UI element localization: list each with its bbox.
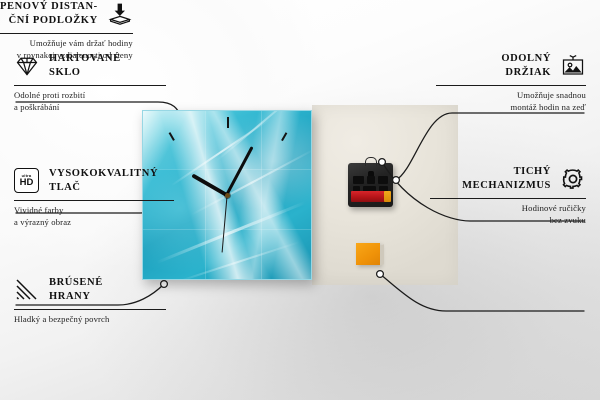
battery-positive-terminal [384,191,391,202]
feature-durable-hanger: ODOLNÝ DRŽIAK Umožňuje snadnou montáž ho… [436,52,586,114]
divider [14,309,166,310]
feature-title: PENOVÝ DISTAN- ČNÍ PODLOŽKY [0,0,98,29]
divider [436,85,586,86]
feature-title: BRÚSENÉ HRANY [49,276,103,305]
divider [14,200,174,201]
feature-title: VYSOKOKVALITNÝ TLAČ [49,167,158,196]
divider [430,198,586,199]
foam-pad-side [380,244,384,265]
mechanism-detail [378,176,388,184]
gear-icon [560,166,586,192]
feature-description: Hodinové ručičky bez zvuku [430,202,586,227]
foam-pads-icon [107,1,133,27]
feature-title: TICHÝ MECHANIZMUS [462,165,551,194]
feature-high-quality-print: ultra HD VYSOKOKVALITNÝ TLAČ Vividné far… [14,167,174,229]
beveled-edge-icon [14,277,40,303]
feature-description: Umožňuje vám držať hodiny v rovnakej vzd… [0,37,133,62]
artwork-gridline [143,229,312,230]
battery: #b51418 [351,191,389,202]
mechanism-hanger-hook [365,157,377,166]
picture-hanger-icon [560,53,586,79]
feature-beveled-edges: BRÚSENÉ HRANY Hladký a bezpečný povrch [14,276,166,325]
clock-mechanism: #b51418 [348,163,393,207]
divider [14,85,166,86]
feature-description: Odolné proti rozbití a poškrábání [14,89,166,114]
feature-silent-mechanism: TICHÝ MECHANIZMUS Hodinové ručičky bez z… [430,165,586,227]
feature-description: Umožňuje snadnou montáž hodin na zeď [436,89,586,114]
feature-description: Vividné farby a výrazný obraz [14,204,174,229]
ultra-hd-big-label: HD [20,178,34,188]
divider [0,33,133,34]
foam-spacer-pad [356,243,380,265]
ultra-hd-icon: ultra HD [14,168,40,194]
feature-description: Hladký a bezpečný povrch [14,313,166,325]
clock-center-pin [225,193,230,198]
product-infographic: #b51418 [0,0,600,400]
mechanism-detail [353,176,364,184]
feature-foam-spacers: PENOVÝ DISTAN- ČNÍ PODLOŽKY Umožňuje vám… [0,0,133,62]
feature-title: ODOLNÝ DRŽIAK [501,52,551,81]
mechanism-detail [367,176,375,184]
